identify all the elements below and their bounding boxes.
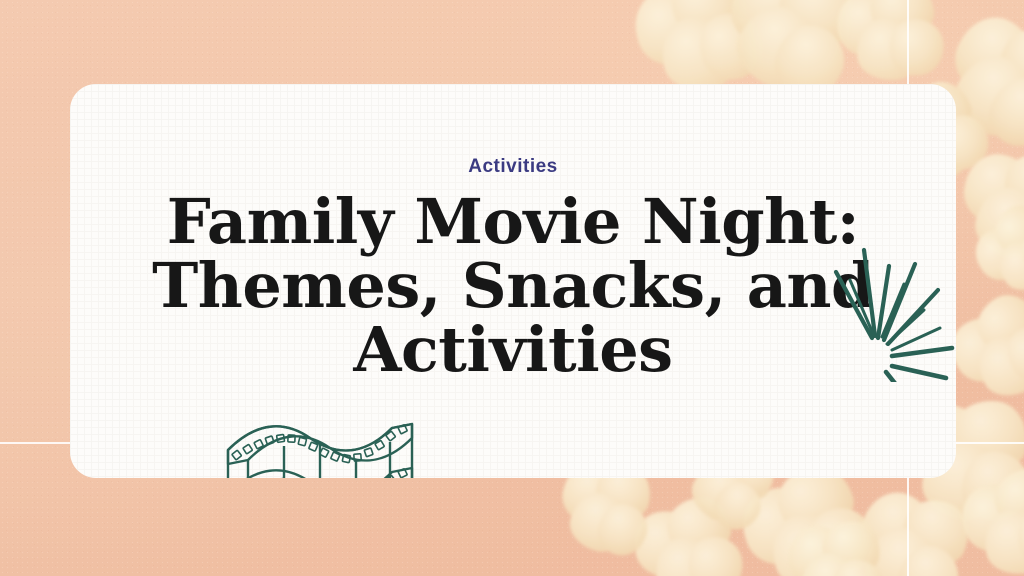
film-strip-icon [222, 416, 418, 478]
card-content: Activities Family Movie Night: Themes, S… [70, 84, 956, 478]
popcorn-kernel [833, 0, 947, 87]
page-title: Family Movie Night: Themes, Snacks, and … [110, 190, 916, 382]
eyebrow-category-label: Activities [70, 156, 956, 178]
content-card: Activities Family Movie Night: Themes, S… [70, 84, 956, 478]
poster-canvas: Activities Family Movie Night: Themes, S… [0, 0, 1024, 576]
popcorn-kernel [784, 516, 888, 576]
